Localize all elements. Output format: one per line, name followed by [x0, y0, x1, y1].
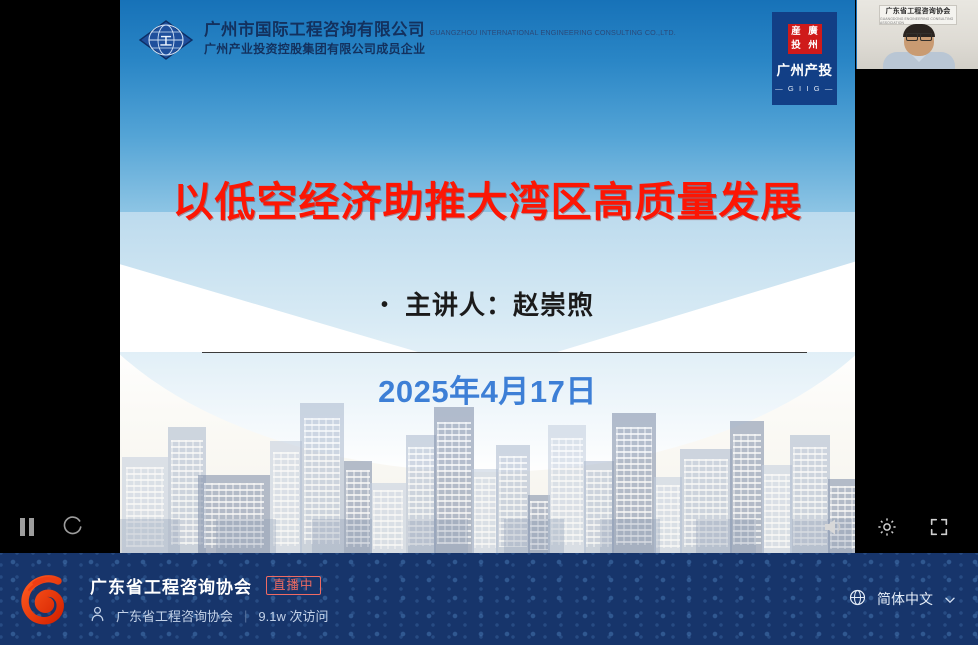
pause-button[interactable]	[18, 517, 36, 537]
language-selector[interactable]: 简体中文	[849, 589, 956, 609]
language-label: 简体中文	[877, 589, 933, 609]
company-logo-text: 广州市国际工程咨询有限公司 GUANGZHOU INTERNATIONAL EN…	[204, 22, 855, 57]
vhall-flame-logo-icon	[14, 569, 74, 629]
host-name: 广东省工程咨询协会	[116, 606, 233, 625]
refresh-icon	[62, 516, 83, 537]
svg-text:工: 工	[160, 34, 172, 48]
company-name-cn: 广州市国际工程咨询有限公司	[204, 21, 425, 39]
visit-count: 9.1w 次访问	[258, 606, 328, 625]
gear-icon	[876, 516, 898, 538]
slide-speaker-name: 主讲人：赵崇煦	[405, 290, 594, 320]
footer-separator: |	[244, 608, 247, 623]
stream-info-footer: 广东省工程咨询协会 直播中 广东省工程咨询协会 | 9.1w 次访问	[0, 553, 978, 645]
slide-date: 2025年4月17日	[120, 366, 855, 411]
chevron-down-icon	[944, 593, 956, 605]
seal-char-0: 産	[788, 25, 805, 39]
company-logo-right: 産 廣 投 州 广州产投 — G I I G —	[772, 12, 837, 105]
player-control-bar	[0, 500, 978, 553]
company-parent-cn: 广州产业投资控股集团有限公司成员企业	[204, 42, 425, 56]
pip-sign-text: 广东省工程咨询协会	[886, 6, 951, 16]
fullscreen-button[interactable]	[928, 516, 950, 538]
stream-title: 广东省工程咨询协会	[90, 573, 252, 598]
seal-char-3: 州	[805, 39, 822, 53]
pip-person-glasses-icon	[906, 33, 932, 39]
slide-title: 以低空经济助推大湾区高质量发展	[120, 168, 855, 228]
fullscreen-icon	[928, 516, 950, 538]
seal-stamp-icon: 産 廣 投 州	[788, 24, 822, 54]
refresh-button[interactable]	[62, 516, 83, 537]
bullet-icon: •	[381, 294, 389, 316]
volume-button[interactable]	[822, 517, 846, 537]
person-icon	[90, 606, 105, 625]
settings-button[interactable]	[876, 516, 898, 538]
company-name-en: GUANGZHOU INTERNATIONAL ENGINEERING CONS…	[429, 28, 675, 37]
presentation-slide: 工 广州市国际工程咨询有限公司 GUANGZHOU INTERNATIONAL …	[120, 0, 855, 553]
pause-icon	[18, 517, 36, 537]
pip-wall-sign: 广东省工程咨询协会 GUANGDONG ENGINEERING CONSULTI…	[879, 5, 957, 25]
status-badge: 直播中	[266, 576, 321, 596]
live-player-page: 工 广州市国际工程咨询有限公司 GUANGZHOU INTERNATIONAL …	[0, 0, 978, 645]
speaker-camera-feed[interactable]: 广东省工程咨询协会 GUANGDONG ENGINEERING CONSULTI…	[856, 0, 978, 69]
seal-char-2: 投	[788, 39, 805, 53]
globe-icon	[849, 589, 866, 609]
right-brand-abbr: — G I I G —	[775, 84, 834, 93]
volume-icon	[822, 517, 846, 537]
slide-speaker-line: •主讲人：赵崇煦	[120, 285, 855, 322]
video-stage[interactable]: 工 广州市国际工程咨询有限公司 GUANGZHOU INTERNATIONAL …	[0, 0, 978, 553]
company-logo-left: 工 广州市国际工程咨询有限公司 GUANGZHOU INTERNATIONAL …	[138, 18, 855, 62]
right-brand-name: 广州产投	[777, 59, 833, 79]
seal-char-1: 廣	[805, 25, 822, 39]
slide-divider	[202, 352, 807, 353]
globe-diamond-logo-icon: 工	[138, 18, 194, 62]
